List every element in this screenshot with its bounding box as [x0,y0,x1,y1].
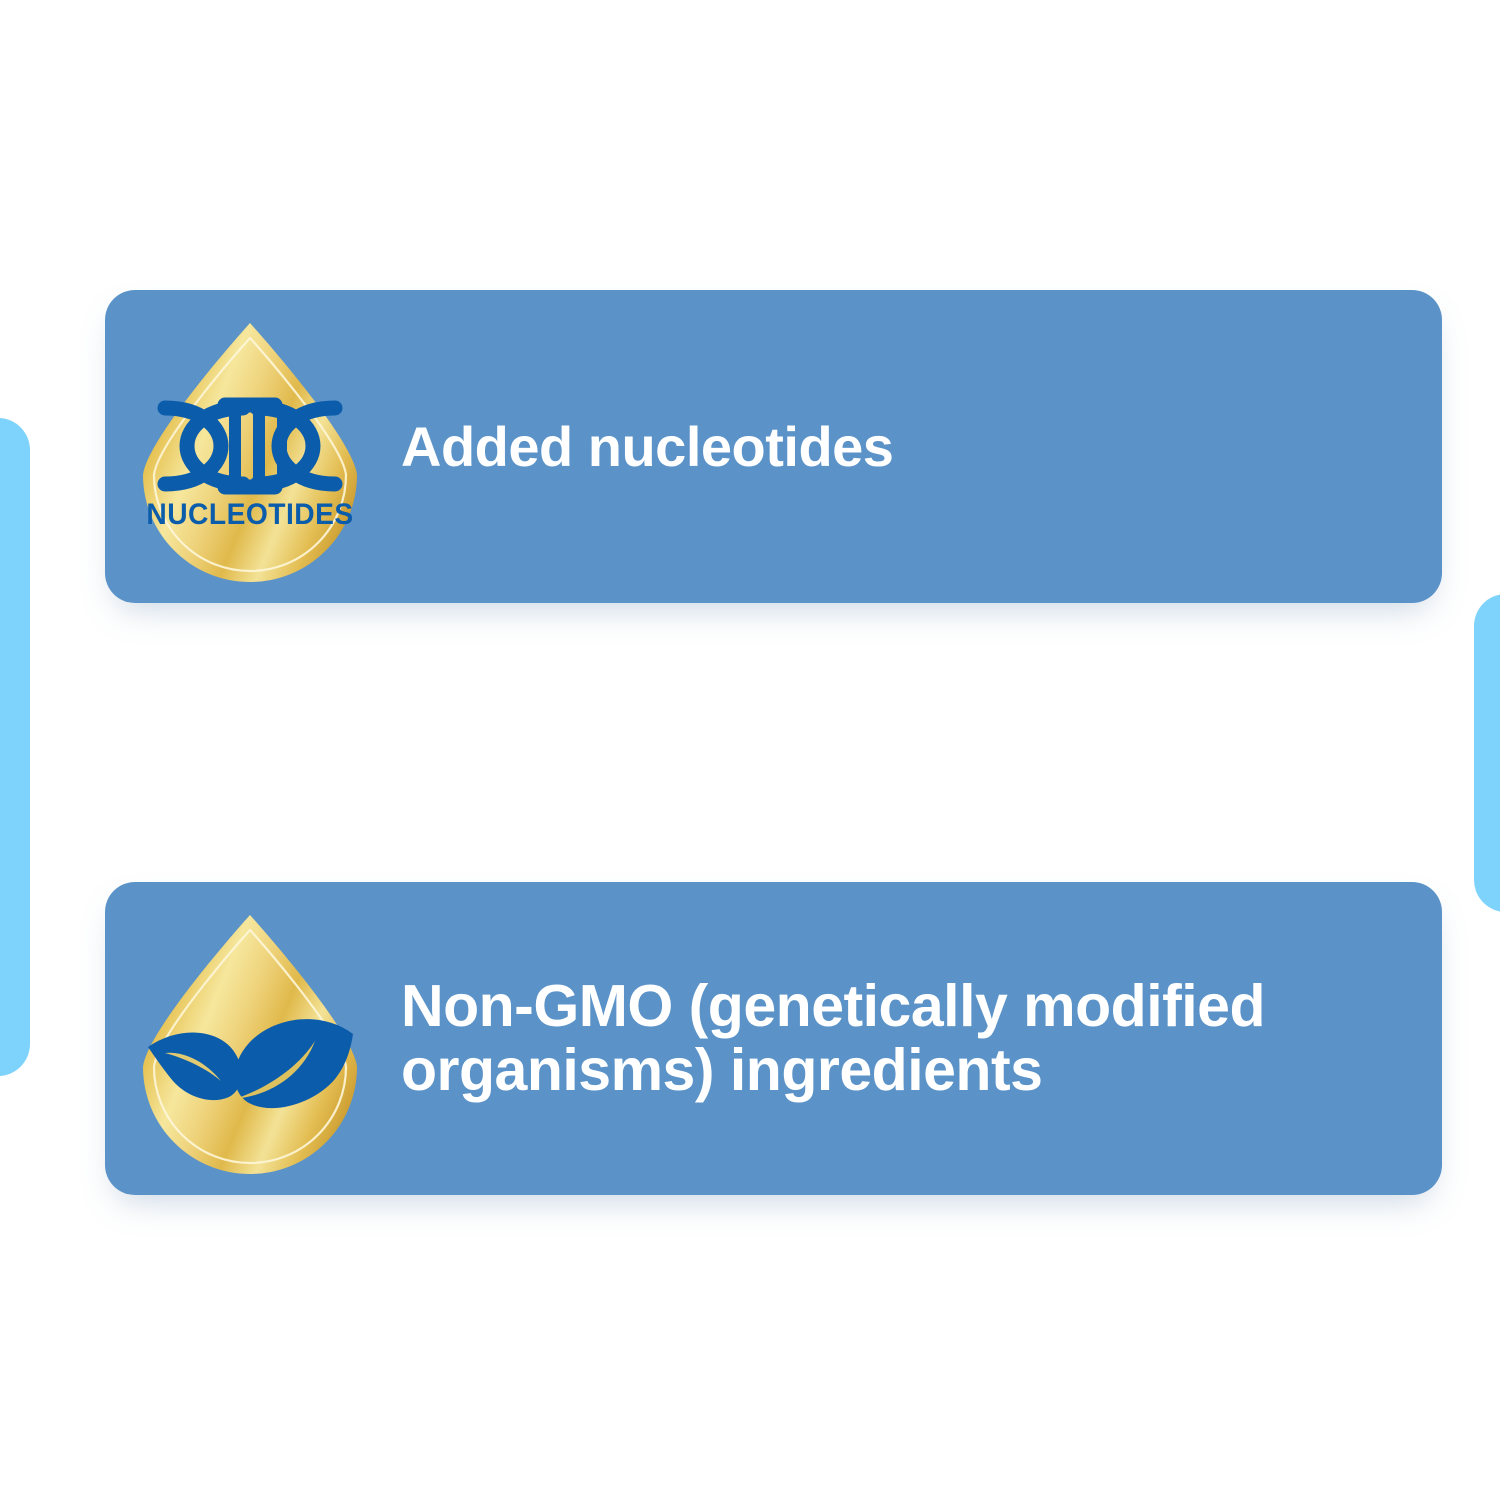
next-slide-peek[interactable] [1474,594,1500,912]
benefits-carousel-stage: NUCLEOTIDES Added nucleotides [0,0,1500,1500]
nucleotides-badge: NUCLEOTIDES [125,309,375,584]
benefit-card-added-nucleotides[interactable]: NUCLEOTIDES Added nucleotides [105,290,1442,603]
benefit-card-non-gmo[interactable]: Non-GMO (genetically modified organisms)… [105,882,1442,1195]
benefit-card-label: Added nucleotides [375,416,1442,478]
badge-caption: NUCLEOTIDES [146,498,353,531]
benefit-card-label-line-1: Non-GMO (genetically modified [401,975,1382,1039]
previous-slide-peek[interactable] [0,418,30,1076]
non-gmo-badge [125,901,375,1176]
benefit-card-label: Non-GMO (genetically modified organisms)… [375,975,1442,1102]
badge-teardrop-shape [143,323,357,582]
benefit-card-label-line-2: organisms) ingredients [401,1039,1382,1103]
